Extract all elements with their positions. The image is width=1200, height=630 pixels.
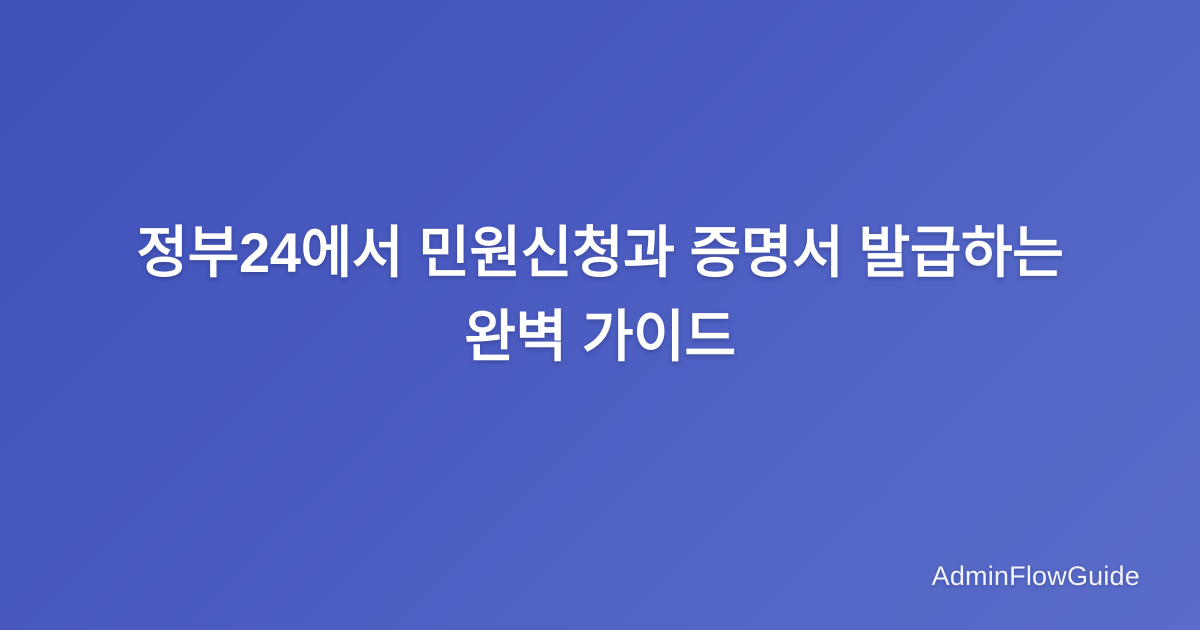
- headline-container: 정부24에서 민원신청과 증명서 발급하는 완벽 가이드: [0, 0, 1200, 630]
- og-card: 정부24에서 민원신청과 증명서 발급하는 완벽 가이드 AdminFlowGu…: [0, 0, 1200, 630]
- headline-line-1: 정부24에서 민원신청과 증명서 발급하는: [137, 211, 1064, 295]
- brand-watermark: AdminFlowGuide: [932, 560, 1140, 592]
- page-title: 정부24에서 민원신청과 증명서 발급하는 완벽 가이드: [137, 211, 1064, 379]
- headline-line-2: 완벽 가이드: [137, 295, 1064, 379]
